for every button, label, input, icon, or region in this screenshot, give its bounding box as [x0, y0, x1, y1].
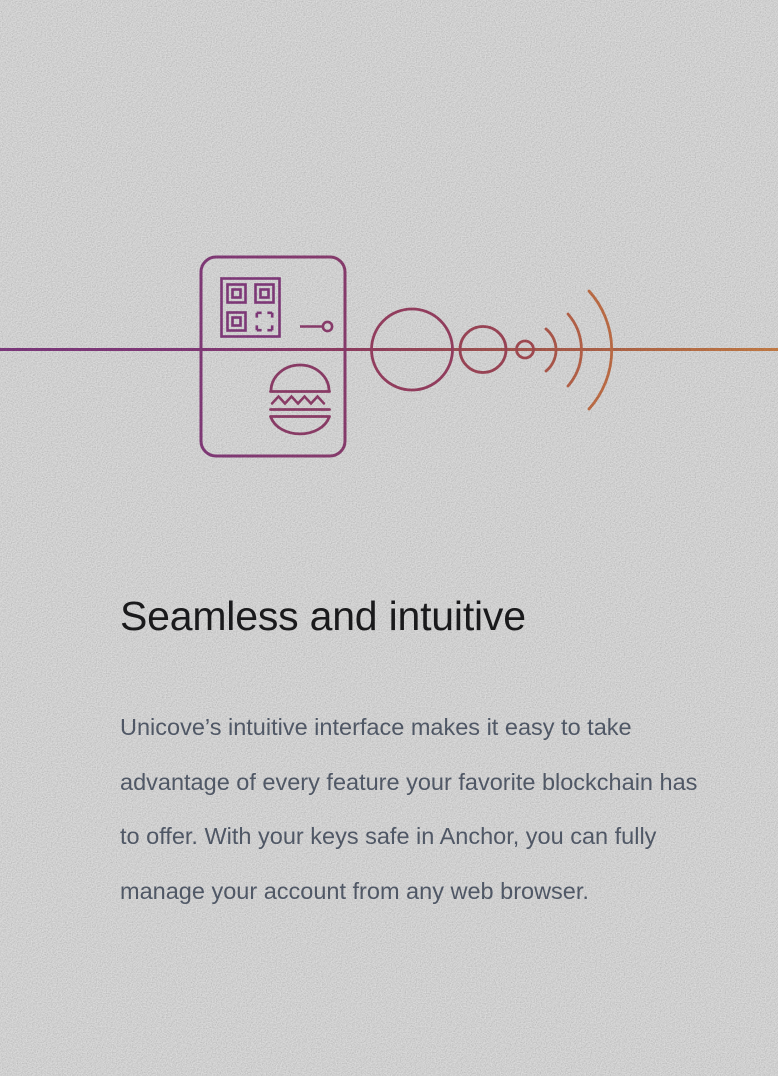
- hamburger-icon: [271, 365, 330, 434]
- feature-section: Seamless and intuitive Unicove’s intuiti…: [0, 0, 778, 1076]
- pin-toggle-icon: [300, 322, 332, 331]
- qr-code-icon: [222, 279, 280, 337]
- feature-description: Unicove’s intuitive interface makes it e…: [120, 640, 720, 918]
- feature-copy: Seamless and intuitive Unicove’s intuiti…: [120, 592, 740, 918]
- hero-illustration-container: [0, 0, 778, 560]
- seamless-and-intuitive-illustration: [0, 0, 778, 560]
- page-title: Seamless and intuitive: [120, 592, 740, 640]
